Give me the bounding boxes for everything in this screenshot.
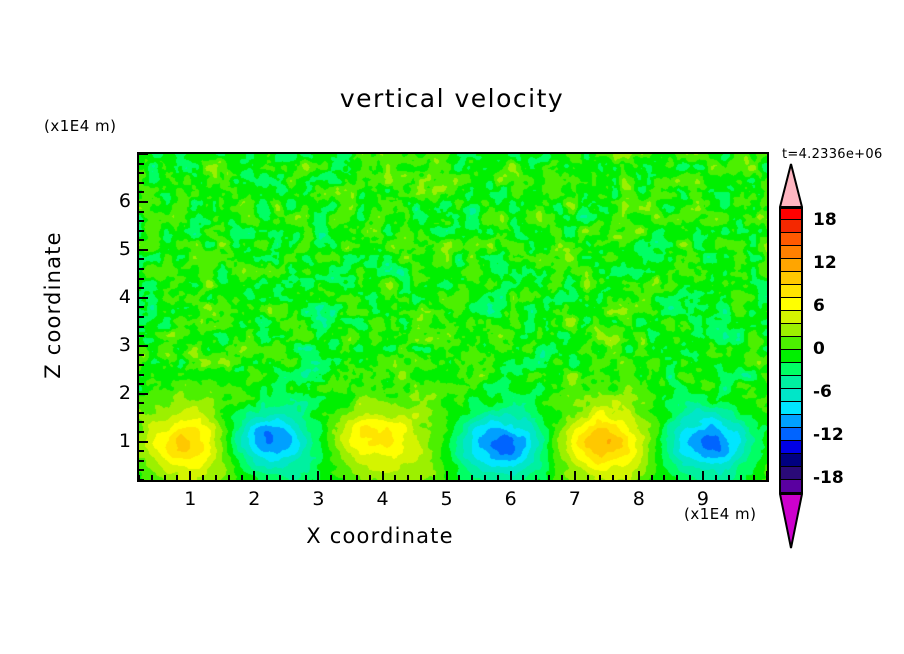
x-minor-tick <box>612 475 614 480</box>
x-minor-tick <box>663 475 665 480</box>
timestamp-label: t=4.2336e+06 <box>782 147 883 162</box>
x-minor-tick <box>625 475 627 480</box>
y-tick-label: 2 <box>105 382 131 404</box>
x-tick-label: 1 <box>170 488 210 510</box>
y-minor-tick <box>139 191 144 193</box>
y-minor-tick <box>139 364 144 366</box>
colorbar-tick-label: -6 <box>813 382 832 402</box>
x-major-tick <box>574 471 576 480</box>
y-minor-tick <box>139 287 144 289</box>
x-tick-label: 9 <box>683 488 723 510</box>
y-minor-tick <box>139 402 144 404</box>
x-minor-tick <box>497 475 499 480</box>
x-minor-tick <box>548 475 550 480</box>
colorbar-band <box>779 324 803 337</box>
x-minor-tick <box>676 475 678 480</box>
y-minor-tick <box>139 172 144 174</box>
colorbar-band <box>779 350 803 363</box>
x-minor-tick <box>728 475 730 480</box>
x-major-tick <box>766 471 768 480</box>
x-tick-label: 5 <box>427 488 467 510</box>
y-minor-tick <box>139 421 144 423</box>
colorbar-band <box>779 480 803 493</box>
x-minor-tick <box>740 475 742 480</box>
x-minor-tick <box>599 475 601 480</box>
y-minor-tick <box>139 374 144 376</box>
y-minor-tick <box>139 335 144 337</box>
x-minor-tick <box>176 475 178 480</box>
y-major-tick <box>139 441 148 443</box>
colorbar: 181260-6-12-18 <box>779 207 803 493</box>
colorbar-band <box>779 259 803 272</box>
y-minor-tick <box>139 460 144 462</box>
x-major-tick <box>189 471 191 480</box>
x-minor-tick <box>330 475 332 480</box>
y-axis-title: Z coordinate <box>41 190 65 420</box>
x-minor-tick <box>433 475 435 480</box>
y-major-tick <box>139 249 148 251</box>
y-minor-tick <box>139 163 144 165</box>
x-tick-label: 6 <box>491 488 531 510</box>
y-major-tick <box>139 297 148 299</box>
colorbar-band <box>779 337 803 350</box>
y-minor-tick <box>139 268 144 270</box>
colorbar-tick-label: -12 <box>813 425 844 445</box>
x-major-tick <box>638 471 640 480</box>
colorbar-band <box>779 428 803 441</box>
x-minor-tick <box>587 475 589 480</box>
y-minor-tick <box>139 211 144 213</box>
x-minor-tick <box>407 475 409 480</box>
y-tick-label: 4 <box>105 286 131 308</box>
y-major-tick <box>139 153 148 155</box>
colorbar-band <box>779 220 803 233</box>
y-minor-tick <box>139 354 144 356</box>
contour-plot-area: 123456789 123456 <box>137 152 769 482</box>
x-minor-tick <box>241 475 243 480</box>
y-minor-tick <box>139 316 144 318</box>
colorbar-band <box>779 233 803 246</box>
colorbar-band <box>779 285 803 298</box>
x-minor-tick <box>458 475 460 480</box>
x-minor-tick <box>651 475 653 480</box>
y-minor-tick <box>139 230 144 232</box>
y-minor-tick <box>139 239 144 241</box>
velocity-field-canvas <box>139 154 767 480</box>
x-minor-tick <box>215 475 217 480</box>
y-tick-label: 1 <box>105 430 131 452</box>
x-minor-tick <box>689 475 691 480</box>
colorbar-tick-label: 0 <box>813 339 825 359</box>
colorbar-band <box>779 207 803 220</box>
x-minor-tick <box>535 475 537 480</box>
x-tick-label: 8 <box>619 488 659 510</box>
x-minor-tick <box>305 475 307 480</box>
colorbar-band <box>779 402 803 415</box>
x-minor-tick <box>471 475 473 480</box>
y-tick-label: 5 <box>105 238 131 260</box>
x-minor-tick <box>484 475 486 480</box>
x-major-tick <box>446 471 448 480</box>
colorbar-tick-label: 6 <box>813 296 825 316</box>
x-tick-label: 3 <box>298 488 338 510</box>
x-minor-tick <box>561 475 563 480</box>
colorbar-band <box>779 376 803 389</box>
x-minor-tick <box>715 475 717 480</box>
x-minor-tick <box>164 475 166 480</box>
y-minor-tick <box>139 278 144 280</box>
y-minor-tick <box>139 220 144 222</box>
y-minor-tick <box>139 326 144 328</box>
colorbar-band <box>779 298 803 311</box>
y-axis-unit-label: (x1E4 m) <box>44 117 117 135</box>
y-tick-label: 6 <box>105 190 131 212</box>
colorbar-band <box>779 454 803 467</box>
x-minor-tick <box>522 475 524 480</box>
x-major-tick <box>253 471 255 480</box>
colorbar-band <box>779 441 803 454</box>
y-minor-tick <box>139 412 144 414</box>
y-minor-tick <box>139 182 144 184</box>
y-minor-tick <box>139 450 144 452</box>
colorbar-band <box>779 389 803 402</box>
y-minor-tick <box>139 383 144 385</box>
colorbar-band <box>779 311 803 324</box>
x-minor-tick <box>266 475 268 480</box>
colorbar-min-extend-arrow <box>779 493 803 549</box>
x-tick-label: 7 <box>555 488 595 510</box>
x-minor-tick <box>151 475 153 480</box>
colorbar-tick-label: 12 <box>813 253 837 273</box>
y-minor-tick <box>139 469 144 471</box>
x-minor-tick <box>420 475 422 480</box>
x-minor-tick <box>343 475 345 480</box>
x-minor-tick <box>292 475 294 480</box>
x-minor-tick <box>753 475 755 480</box>
y-major-tick <box>139 201 148 203</box>
y-minor-tick <box>139 258 144 260</box>
y-minor-tick <box>139 306 144 308</box>
y-tick-label: 3 <box>105 334 131 356</box>
colorbar-tick-label: -18 <box>813 468 844 488</box>
x-minor-tick <box>394 475 396 480</box>
x-major-tick <box>382 471 384 480</box>
x-minor-tick <box>279 475 281 480</box>
colorbar-band <box>779 363 803 376</box>
page-title: vertical velocity <box>0 84 904 113</box>
x-major-tick <box>510 471 512 480</box>
x-tick-label: 4 <box>363 488 403 510</box>
colorbar-band <box>779 415 803 428</box>
x-minor-tick <box>228 475 230 480</box>
x-major-tick <box>317 471 319 480</box>
colorbar-tick-label: 18 <box>813 210 837 230</box>
y-major-tick <box>139 393 148 395</box>
colorbar-band <box>779 467 803 480</box>
colorbar-band <box>779 246 803 259</box>
y-minor-tick <box>139 431 144 433</box>
y-major-tick <box>139 345 148 347</box>
colorbar-band <box>779 272 803 285</box>
x-major-tick <box>702 471 704 480</box>
colorbar-band-stack <box>779 207 803 493</box>
y-minor-tick <box>139 479 144 481</box>
x-minor-tick <box>369 475 371 480</box>
x-minor-tick <box>356 475 358 480</box>
x-tick-label: 2 <box>234 488 274 510</box>
colorbar-max-extend-arrow <box>779 163 803 208</box>
x-axis-title: X coordinate <box>0 524 760 548</box>
x-minor-tick <box>202 475 204 480</box>
